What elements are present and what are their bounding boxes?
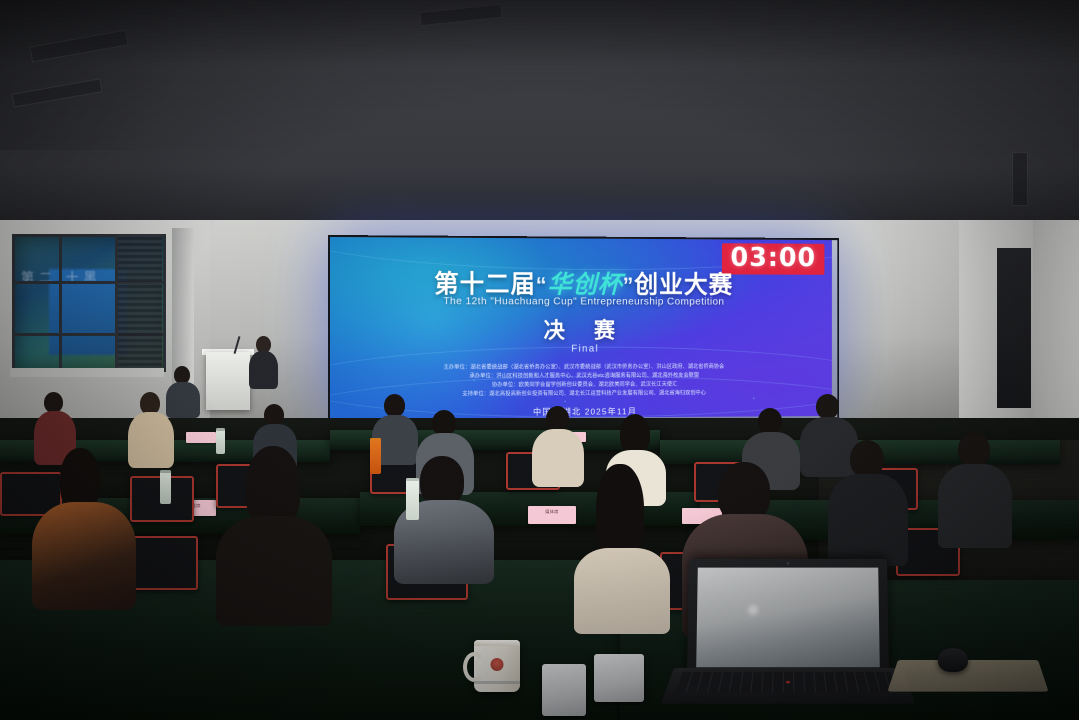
screen-organizers: 主办单位：湖北省委统战部（湖北省侨务办公室）、武汉市委统战部（武汉市侨务办公室）…: [330, 363, 832, 399]
person-body: [216, 516, 332, 626]
laptop-keyboard[interactable]: [661, 668, 915, 704]
person-head: [246, 446, 300, 526]
webcam-icon: [787, 562, 790, 565]
organizer-line: 支持单位：湖北高投高新创业投资有限公司、湖北长江运营科技产业发展有限公司、湖北省…: [330, 388, 832, 399]
person-head: [596, 464, 644, 560]
person-head: [758, 408, 782, 434]
person-head: [384, 394, 405, 417]
name-card-label: 媒体席: [528, 509, 576, 515]
mug-emblem-icon: [491, 658, 504, 671]
led-screen: 03:00 第十二届“华创杯”创业大赛 The 12th "Huachuang …: [330, 237, 832, 419]
person-head: [620, 414, 650, 454]
water-bottle: [160, 470, 171, 504]
bottle-cap: [406, 478, 419, 481]
quote-open: “: [536, 273, 548, 298]
person-body: [532, 429, 584, 487]
podium: [206, 352, 250, 410]
screenshot-root: 第二 十黑 智造首选地 筑梦青山 洪山区创业服务 创 智造首选地 筑梦青山湖: [0, 0, 1079, 720]
person-head: [850, 440, 884, 478]
person-body: [800, 417, 858, 477]
ceiling: [0, 0, 1079, 232]
title-suffix: 创业大赛: [634, 271, 733, 299]
window-blinds: [118, 234, 162, 368]
doorway: [997, 248, 1031, 408]
person-body: [32, 502, 136, 610]
title-highlight: 华创杯: [547, 271, 622, 299]
laptop-screen[interactable]: [687, 559, 889, 677]
person-body: [938, 464, 1012, 548]
person-head: [546, 406, 569, 431]
screen-stage-cn: 决 赛: [330, 313, 832, 345]
ceiling-shading: [0, 0, 1079, 232]
name-card: [186, 432, 216, 443]
screen-content: 第十二届“华创杯”创业大赛 The 12th "Huachuang Cup" E…: [330, 271, 832, 419]
mug-rim: [474, 640, 520, 646]
right-wall-far: [1033, 220, 1079, 450]
person-body: [128, 412, 174, 468]
person-body: [249, 351, 278, 389]
water-bottle: [406, 478, 419, 520]
water-bottle: [216, 428, 225, 454]
mug-band: [474, 681, 520, 684]
computer-mouse[interactable]: [938, 648, 968, 672]
person-body: [166, 382, 200, 418]
tea-mug: [474, 640, 520, 692]
person-head: [60, 448, 100, 510]
person-head: [44, 392, 63, 413]
mouse-pad: [887, 660, 1048, 692]
screen-stage-en: Final: [330, 344, 832, 356]
name-card: 媒体席: [528, 506, 576, 524]
person-head: [264, 404, 284, 426]
person-head: [718, 462, 770, 522]
bottle-cap: [216, 428, 225, 431]
smartphone[interactable]: [594, 654, 644, 702]
mug-handle: [463, 652, 486, 682]
quote-close: ”: [623, 273, 635, 298]
person-head: [816, 394, 839, 419]
bottle-cap: [370, 438, 381, 441]
person-body: [574, 548, 670, 634]
display-glare: [748, 605, 758, 615]
smartphone[interactable]: [542, 664, 586, 716]
countdown-timer: 03:00: [722, 243, 824, 275]
bottle-cap: [160, 470, 171, 473]
laptop-display[interactable]: [696, 568, 880, 668]
screen-title-cn: 第十二届“华创杯”创业大赛: [330, 271, 832, 298]
person-head: [420, 456, 464, 506]
window-sill: [10, 368, 164, 377]
person-body: [828, 474, 908, 566]
title-prefix: 第十二届: [434, 270, 536, 298]
window-mullion: [59, 237, 62, 369]
screen-title-en: The 12th "Huachuang Cup" Entrepreneurshi…: [330, 295, 832, 308]
beverage-bottle: [370, 438, 381, 474]
person-head: [958, 432, 990, 468]
trackpoint-icon[interactable]: [786, 681, 790, 684]
